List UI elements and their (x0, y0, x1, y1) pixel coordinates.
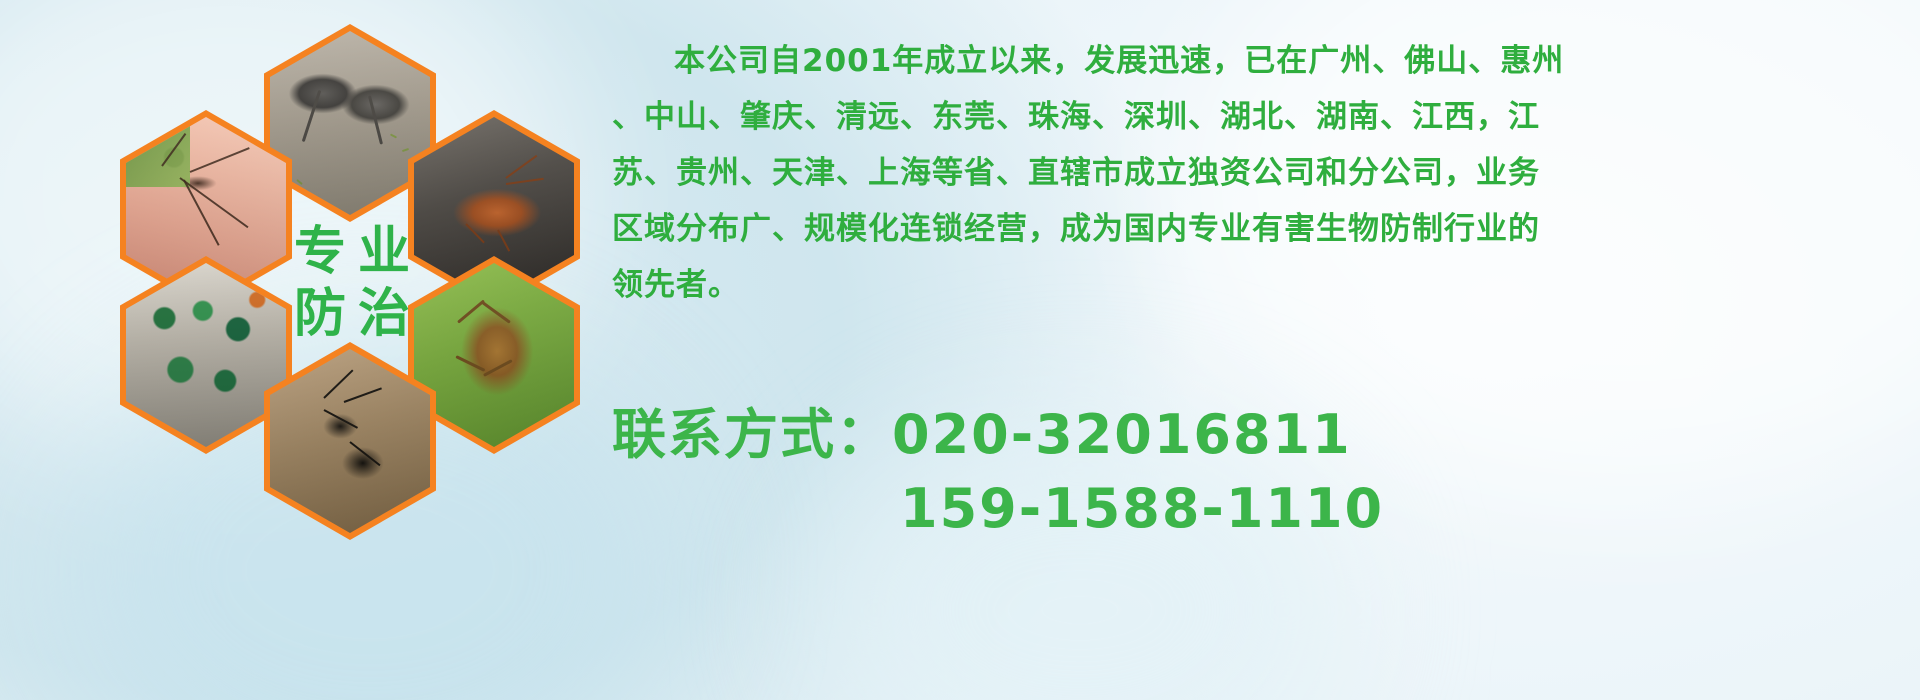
slogan-line-1: 专业 (282, 226, 422, 278)
contact-block: 联系方式：020-32016811 159-1588-1110 (612, 398, 1892, 546)
promo-banner: 专业 防治 本公司自2001年成立以来，发展迅速，已在广州、佛山、惠州 、中山、… (0, 0, 1920, 700)
intro-line-3: 苏、贵州、天津、上海等省、直辖市成立独资公司和分公司，业务 (612, 146, 1892, 201)
honeycomb-photo-cluster: 专业 防治 (96, 10, 596, 555)
contact-phone-line[interactable]: 联系方式：020-32016811 (612, 398, 1892, 472)
intro-line-4: 区域分布广、规模化连锁经营，成为国内专业有害生物防制行业的 (612, 202, 1892, 257)
slogan-block: 专业 防治 (252, 198, 452, 368)
contact-mobile-line[interactable]: 159-1588-1110 (612, 472, 1892, 546)
photo-ant (270, 349, 430, 533)
slogan-line-2: 防治 (282, 288, 422, 340)
intro-line-2: 、中山、肇庆、清远、东莞、珠海、深圳、湖北、湖南、江西，江 (612, 90, 1892, 145)
photo-rats (270, 31, 430, 215)
intro-line-1: 本公司自2001年成立以来，发展迅速，已在广州、佛山、惠州 (612, 34, 1892, 89)
intro-paragraph: 本公司自2001年成立以来，发展迅速，已在广州、佛山、惠州 、中山、肇庆、清远、… (612, 34, 1892, 314)
intro-line-5: 领先者。 (612, 258, 1892, 313)
